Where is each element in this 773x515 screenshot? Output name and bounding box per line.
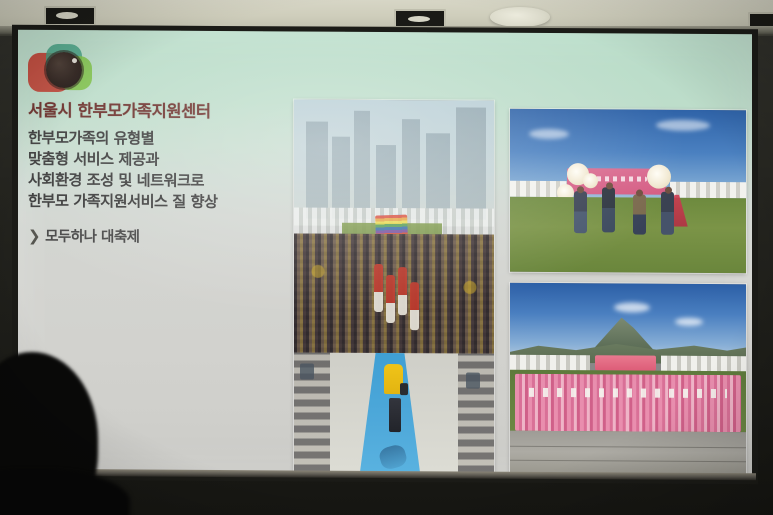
parade-building [354,111,370,219]
four-person [574,191,587,233]
parade-right-spectators [458,353,494,472]
parade-performer [398,267,407,315]
vent-slot [56,12,78,19]
parade-building [456,108,486,220]
presentation-slide: 서울시 한부모가족지원센터 한부모가족의 유형별 맞춤형 서비스 제공과 사회환… [18,30,752,477]
parade-performer [374,264,383,312]
group-pavement [510,431,746,474]
parade-walker-bag [400,383,408,395]
four-tents-right [670,181,746,198]
four-person [633,194,646,234]
body-line-4: 한부모 가족지원서비스 질 향상 [28,191,218,213]
parade-building [306,122,328,219]
parade-building [332,137,350,219]
four-cloud [656,119,710,130]
parade-building [402,119,420,220]
logo-lens-icon [46,52,82,88]
four-lawn [510,197,746,273]
ceiling [0,0,773,28]
four-person-head [606,183,613,190]
chevron-right-icon: ❯ [28,227,40,245]
four-cloud [529,128,569,138]
group-people-pink-shirts [515,374,742,432]
four-paper-flower [583,173,598,188]
group-cloud [614,302,650,312]
parade-chair [466,372,480,388]
parade-performer [386,275,395,323]
parade-chair [300,364,314,380]
parade-building [426,134,450,220]
group-held-signs [529,387,727,398]
vent-icon [44,6,96,26]
body-line-3: 사회환경 조성 및 네트워크로 [28,170,218,192]
slide-bullet-item: ❯모두하나 대축제 [28,225,140,247]
photo-parade [294,99,494,472]
vent-slot [408,16,430,22]
group-banner [595,355,656,371]
photo-group-of-four [510,109,746,273]
parade-walker-legs [389,398,401,432]
parade-performer [410,282,419,330]
slide-bullet-label: 모두하나 대축제 [45,229,139,246]
four-person-head [577,186,584,193]
room-scene: 서울시 한부모가족지원센터 한부모가족의 유형별 맞춤형 서비스 제공과 사회환… [0,0,773,515]
four-person [602,188,615,233]
logo-flash-dot [72,58,77,63]
projection-screen: 서울시 한부모가족지원센터 한부모가족의 유형별 맞춤형 서비스 제공과 사회환… [18,30,752,477]
four-person-head [665,186,672,193]
body-line-2: 맞춤형 서비스 제공과 [28,149,218,171]
ceiling-light-icon [490,7,550,27]
slide-body: 한부모가족의 유형별 맞춤형 서비스 제공과 사회환경 조성 및 네트워크로 한… [28,128,218,213]
camera-logo [28,44,96,94]
body-line-1: 한부모가족의 유형별 [28,128,218,150]
slide-title: 서울시 한부모가족지원센터 [28,97,211,122]
photo-large-group [510,283,746,474]
four-person [661,191,674,234]
